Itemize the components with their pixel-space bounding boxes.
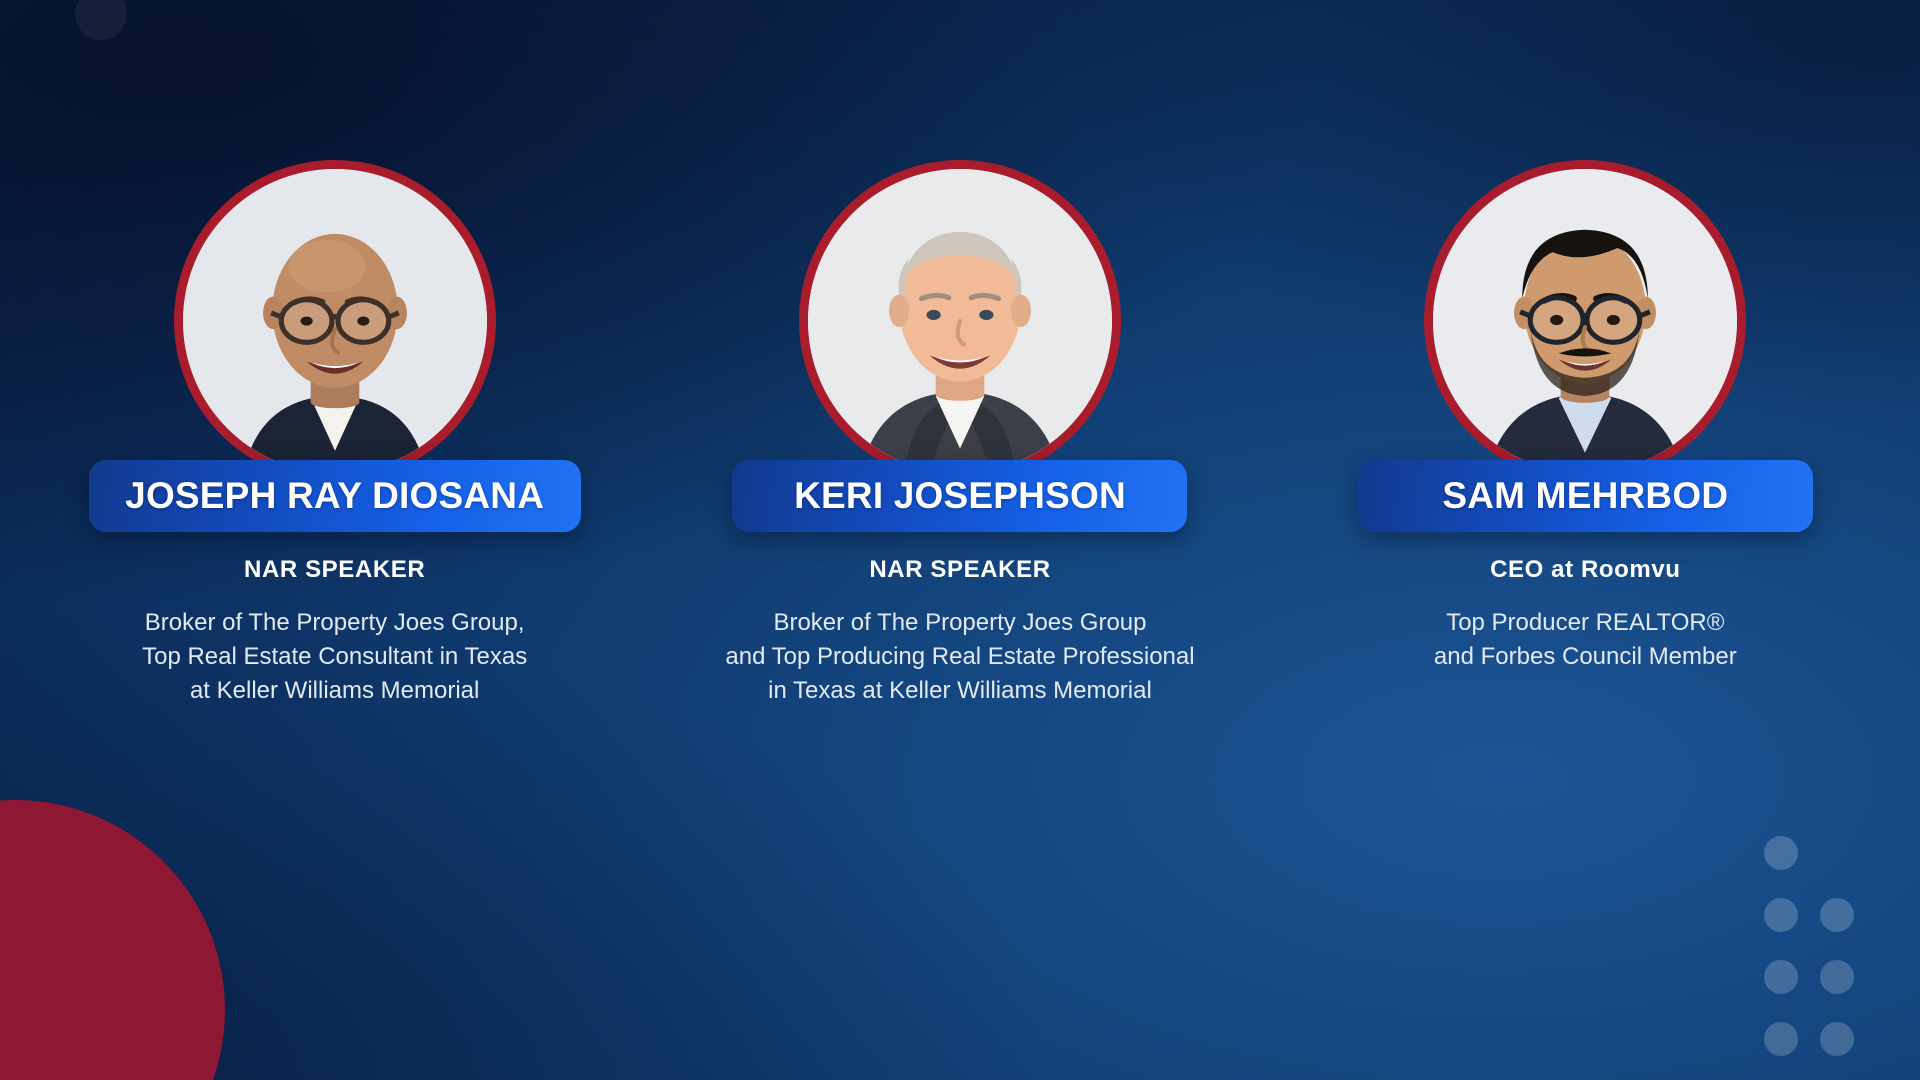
portrait-sam-mehrbod	[1433, 169, 1737, 473]
speaker-name-banner-3[interactable]: SAM MEHRBOD	[1358, 460, 1813, 532]
speaker-role-2: NAR SPEAKER	[869, 556, 1050, 584]
speaker-bio-2: Broker of The Property Joes Group and To…	[725, 606, 1194, 708]
speaker-name-2: KERI JOSEPHSON	[794, 475, 1126, 517]
speaker-role-3: CEO at Roomvu	[1490, 556, 1680, 584]
portrait-wrapper-3	[1424, 160, 1746, 482]
speakers-row: JOSEPH RAY DIOSANA NAR SPEAKER Broker of…	[0, 0, 1920, 1080]
speaker-name-banner-2[interactable]: KERI JOSEPHSON	[732, 460, 1187, 532]
speaker-bio-1: Broker of The Property Joes Group, Top R…	[142, 606, 527, 708]
speaker-bio-3: Top Producer REALTOR® and Forbes Council…	[1434, 606, 1737, 674]
speaker-card-1: JOSEPH RAY DIOSANA NAR SPEAKER Broker of…	[22, 0, 647, 1080]
portrait-ring-3	[1424, 160, 1746, 482]
speaker-card-2: KERI JOSEPHSON NAR SPEAKER Broker of The…	[647, 0, 1272, 1080]
portrait-ring-1	[174, 160, 496, 482]
portrait-keri-josephson	[808, 169, 1112, 473]
speaker-name-banner-1[interactable]: JOSEPH RAY DIOSANA	[89, 460, 581, 532]
portrait-joseph-ray-diosana	[183, 169, 487, 473]
speaker-name-1: JOSEPH RAY DIOSANA	[125, 475, 544, 517]
portrait-wrapper-2	[799, 160, 1121, 482]
speaker-card-3: SAM MEHRBOD CEO at Roomvu Top Producer R…	[1273, 0, 1898, 1080]
speaker-role-1: NAR SPEAKER	[244, 556, 425, 584]
portrait-ring-2	[799, 160, 1121, 482]
slide-background: JOSEPH RAY DIOSANA NAR SPEAKER Broker of…	[0, 0, 1920, 1080]
speaker-name-3: SAM MEHRBOD	[1442, 475, 1728, 517]
portrait-wrapper-1	[174, 160, 496, 482]
